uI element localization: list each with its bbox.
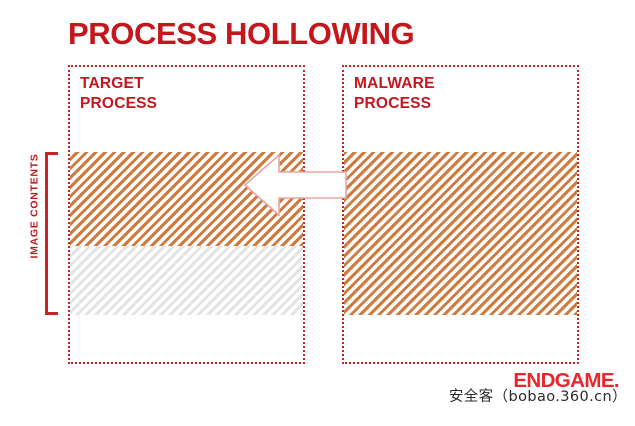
image-contents-label: IMAGE CONTENTS (29, 125, 41, 288)
malware-process-label: MALWARE PROCESS (354, 74, 435, 114)
watermark-text: 安全客（bobao.360.cn） (449, 385, 627, 406)
left-pointing-arrow-icon (243, 152, 347, 218)
target-gray-hatch-band (70, 246, 303, 315)
target-process-label: TARGET PROCESS (80, 74, 157, 114)
malware-orange-hatch-band (344, 152, 577, 315)
page-title: PROCESS HOLLOWING (68, 18, 414, 51)
image-contents-bracket (45, 152, 58, 315)
slide-canvas: PROCESS HOLLOWING TARGET PROCESS MALWARE… (0, 0, 635, 426)
